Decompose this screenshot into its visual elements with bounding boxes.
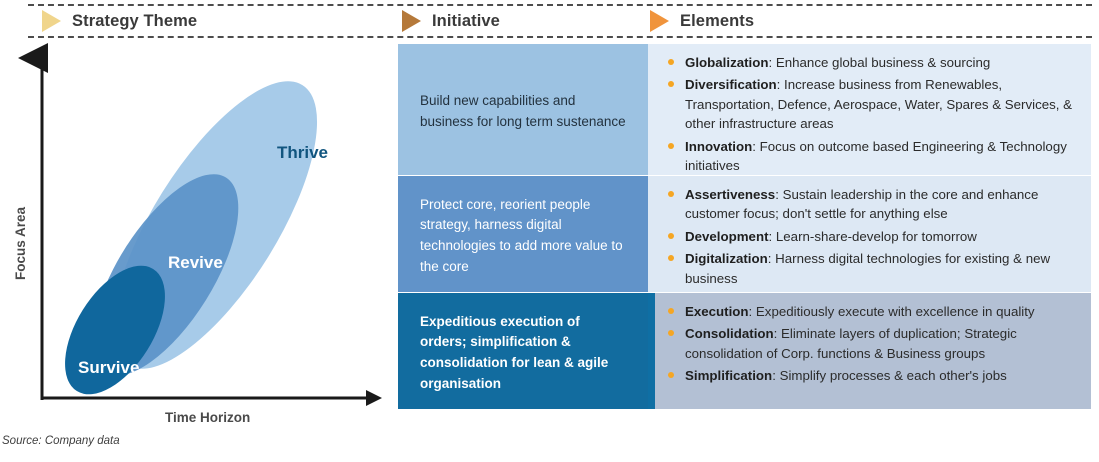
elements-cell: Globalization: Enhance global business &… (648, 44, 1091, 175)
element-desc: : Simplify processes & each other's jobs (772, 368, 1007, 383)
element-term: Simplification (685, 368, 772, 383)
element-term: Assertiveness (685, 187, 775, 202)
element-desc: : Enhance global business & sourcing (768, 55, 990, 70)
strategy-theme-chart: Focus Area Time Horizon Thrive Revive Su… (0, 40, 392, 412)
initiative-cell: Build new capabilities and business for … (398, 44, 648, 175)
header-strategy-theme-label: Strategy Theme (72, 12, 197, 31)
matrix-row: Expeditious execution of orders; simplif… (398, 293, 1091, 409)
element-desc: : Learn-share-develop for tomorrow (769, 229, 977, 244)
elements-list: Execution: Expeditiously execute with ex… (665, 302, 1077, 386)
initiative-cell: Protect core, reorient people strategy, … (398, 176, 648, 292)
list-item: Diversification: Increase business from … (665, 75, 1077, 133)
header-elements: Elements (650, 6, 754, 36)
header-initiative-label: Initiative (432, 12, 500, 31)
header-elements-label: Elements (680, 12, 754, 31)
element-term: Consolidation (685, 326, 774, 341)
element-desc: : Expeditiously execute with excellence … (749, 304, 1035, 319)
element-term: Digitalization (685, 251, 768, 266)
list-item: Execution: Expeditiously execute with ex… (665, 302, 1077, 321)
list-item: Assertiveness: Sustain leadership in the… (665, 185, 1077, 224)
matrix-row: Build new capabilities and business for … (398, 44, 1091, 175)
element-term: Globalization (685, 55, 768, 70)
y-axis-label: Focus Area (13, 207, 28, 280)
element-term: Innovation (685, 139, 752, 154)
bubble-label-revive: Revive (168, 253, 223, 273)
list-item: Digitalization: Harness digital technolo… (665, 249, 1077, 288)
bubble-label-survive: Survive (78, 358, 139, 378)
list-item: Consolidation: Eliminate layers of dupli… (665, 324, 1077, 363)
triangle-right-icon (402, 10, 421, 32)
x-axis-label: Time Horizon (165, 410, 250, 425)
element-term: Development (685, 229, 769, 244)
x-axis-arrowhead (366, 390, 382, 406)
list-item: Innovation: Focus on outcome based Engin… (665, 137, 1077, 176)
elements-cell: Execution: Expeditiously execute with ex… (648, 293, 1091, 409)
triangle-right-icon (42, 10, 61, 32)
strategy-matrix: Build new capabilities and business for … (398, 44, 1091, 409)
element-term: Execution (685, 304, 749, 319)
matrix-row: Protect core, reorient people strategy, … (398, 176, 1091, 292)
triangle-right-icon (650, 10, 669, 32)
list-item: Simplification: Simplify processes & eac… (665, 366, 1077, 385)
element-term: Diversification (685, 77, 777, 92)
source-note: Source: Company data (2, 435, 120, 447)
list-item: Globalization: Enhance global business &… (665, 53, 1077, 72)
list-item: Development: Learn-share-develop for tom… (665, 227, 1077, 246)
elements-list: Assertiveness: Sustain leadership in the… (665, 185, 1077, 288)
chart-svg (0, 40, 392, 412)
header-initiative: Initiative (402, 6, 500, 36)
initiative-cell: Expeditious execution of orders; simplif… (398, 293, 648, 409)
bubble-label-thrive: Thrive (277, 143, 328, 163)
column-header-band: Strategy Theme Initiative Elements (28, 4, 1092, 38)
elements-cell: Assertiveness: Sustain leadership in the… (648, 176, 1091, 292)
elements-list: Globalization: Enhance global business &… (665, 53, 1077, 175)
header-strategy-theme: Strategy Theme (42, 6, 197, 36)
